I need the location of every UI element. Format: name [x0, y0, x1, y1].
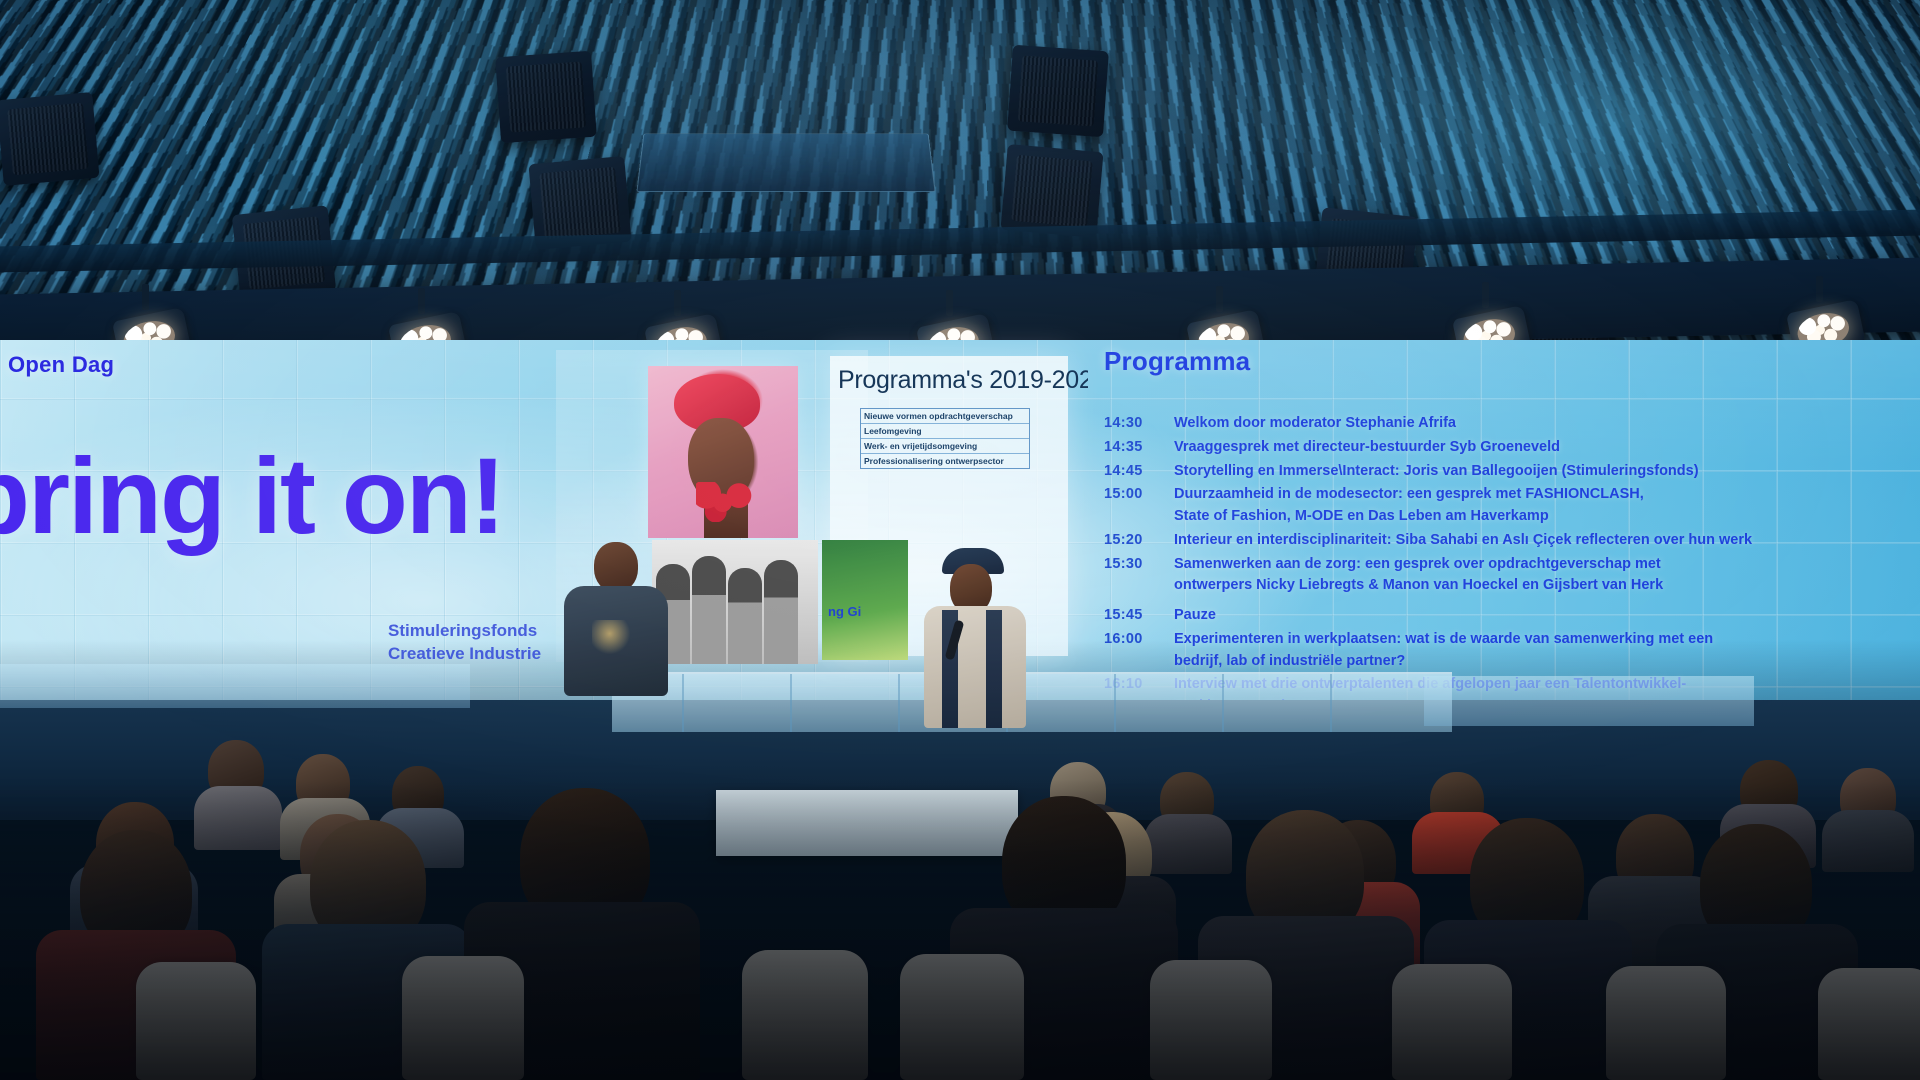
slide-programme-table: Nieuwe vormen opdrachtgeverschap Leefomg… — [860, 408, 1030, 469]
schedule-row: 15:20 Interieur en interdisciplinariteit… — [1104, 530, 1920, 552]
bring-it-on-slogan: bring it on! — [0, 442, 504, 550]
table-row: Leefomgeving — [861, 424, 1029, 439]
schedule-title: Storytelling en Immerse\Interact: Joris … — [1174, 461, 1699, 483]
audience-area — [0, 596, 1920, 1080]
open-dag-label: Open Dag — [8, 352, 114, 378]
schedule-time: 14:30 — [1104, 413, 1174, 435]
portrait-beads — [696, 482, 754, 522]
hanging-speaker — [495, 51, 597, 143]
schedule-row: 14:45 Storytelling en Immerse\Interact: … — [1104, 461, 1920, 483]
schedule-row: 14:35 Vraaggesprek met directeur-bestuur… — [1104, 437, 1920, 459]
schedule-title: Vraaggesprek met directeur-bestuurder Sy… — [1174, 437, 1560, 459]
hanging-speaker — [0, 92, 100, 186]
slide-portrait-photo — [648, 366, 798, 538]
schedule-title: Interieur en interdisciplinariteit: Siba… — [1174, 530, 1752, 552]
schedule-time: 15:20 — [1104, 530, 1174, 552]
table-row: Nieuwe vormen opdrachtgeverschap — [861, 409, 1029, 424]
event-photo-scene: Open Dag bring it on! Stimuleringsfonds … — [0, 0, 1920, 1080]
schedule-time: 15:00 — [1104, 484, 1174, 506]
slide-title: Programma's 2019-2020 — [838, 366, 1088, 395]
table-row: Werk- en vrijetijdsomgeving — [861, 439, 1029, 454]
schedule-time: 14:35 — [1104, 437, 1174, 459]
schedule-time: 14:45 — [1104, 461, 1174, 483]
audience-shadow-overlay — [0, 780, 1920, 1080]
schedule-row: 14:30 Welkom door moderator Stephanie Af… — [1104, 413, 1920, 435]
hanging-speaker — [1007, 45, 1109, 137]
schedule-row: 15:00 Duurzaamheid in de modesector: een… — [1104, 484, 1920, 528]
schedule-row: 15:30 Samenwerken aan de zorg: een gespr… — [1104, 554, 1920, 598]
schedule-time: 15:30 — [1104, 554, 1174, 576]
schedule-title: Samenwerken aan de zorg: een gesprek ove… — [1174, 554, 1663, 598]
hanging-speaker — [1000, 144, 1103, 238]
table-row: Professionalisering ontwerpsector — [861, 454, 1029, 468]
schedule-title: Welkom door moderator Stephanie Afrifa — [1174, 413, 1456, 435]
schedule-title: Duurzaamheid in de modesector: een gespr… — [1174, 484, 1644, 528]
programma-heading: Programma — [1104, 346, 1920, 377]
